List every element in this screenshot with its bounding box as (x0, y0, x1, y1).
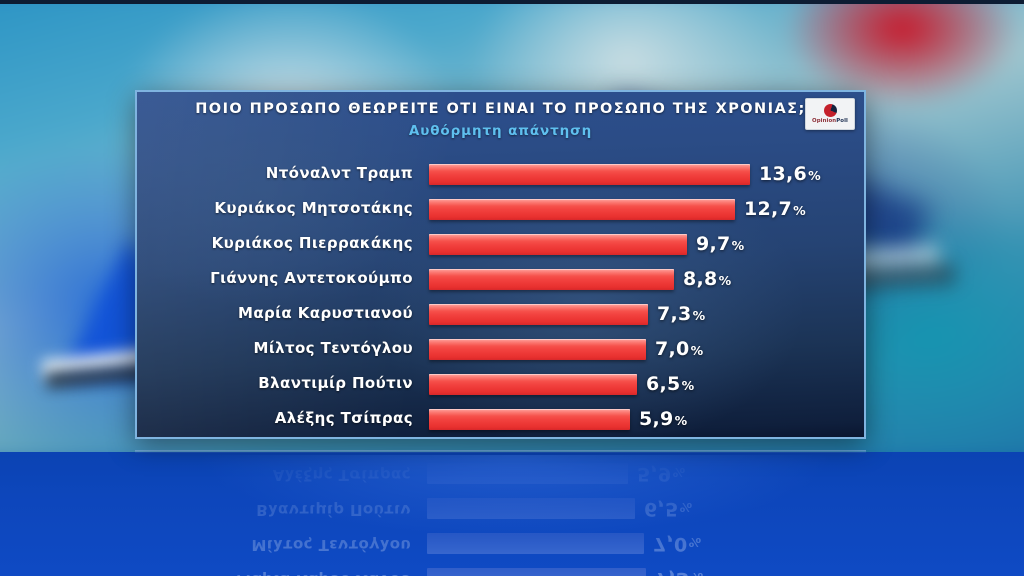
result-bar: 8,8% (429, 269, 674, 290)
result-row: Γιάννης Αντετοκούμπο8,8% (137, 265, 864, 300)
result-row: Κυριάκος Πιερρακάκης9,7% (137, 230, 864, 265)
result-value-number: 7,0 (653, 533, 688, 555)
percent-sign: % (680, 500, 693, 515)
result-bar: 5,9% (427, 463, 628, 484)
page-title: ΠΟΙΟ ΠΡΟΣΩΠΟ ΘΕΩΡΕΙΤΕ ΟΤΙ ΕΙΝΑΙ ΤΟ ΠΡΟΣΩ… (137, 101, 864, 117)
result-row: Μίλτος Τεντόγλου7,0% (137, 335, 864, 370)
result-bar: 13,6% (429, 164, 750, 185)
bar-track: 12,7% (429, 199, 856, 220)
bar-track: 7,3% (429, 304, 856, 325)
bar-track: 6,5% (429, 374, 856, 395)
opinionpoll-logo: OpinionPoll (805, 98, 855, 130)
percent-sign: % (691, 343, 704, 358)
result-row-label: Κυριάκος Μητσοτάκης (137, 199, 413, 217)
result-bar: 5,9% (429, 409, 630, 430)
opinionpoll-mark-icon (824, 104, 837, 117)
result-row: Ντόναλντ Τραμπ13,6% (137, 160, 864, 195)
panel-reflection: Ντόναλντ Τραμπ13,6%Κυριάκος Μητσοτάκης12… (135, 452, 866, 576)
top-letterbox-bar (0, 0, 1024, 4)
percent-sign: % (689, 535, 702, 550)
result-value-label: 6,5% (644, 495, 692, 521)
bar-track: 5,9% (429, 409, 856, 430)
result-row-label: Μαρία Καρυστιανού (137, 304, 413, 322)
result-value-label: 7,3% (657, 302, 705, 328)
result-row-label: Ντόναλντ Τραμπ (137, 164, 413, 182)
result-value-number: 7,0 (655, 338, 690, 360)
result-bar: 7,0% (429, 339, 646, 360)
percent-sign: % (673, 465, 686, 480)
bar-track: 7,0% (429, 339, 856, 360)
result-row: Αλέξης Τσίπρας5,9% (137, 405, 864, 439)
result-value-number: 8,8 (683, 268, 718, 290)
panel-header: ΠΟΙΟ ΠΡΟΣΩΠΟ ΘΕΩΡΕΙΤΕ ΟΤΙ ΕΙΝΑΙ ΤΟ ΠΡΟΣΩ… (137, 101, 864, 139)
opinionpoll-logo-text: OpinionPoll (812, 118, 848, 124)
result-value-number: 13,6 (759, 163, 807, 185)
result-row: Μαρία Καρυστιανού7,3% (137, 300, 864, 335)
result-row: Μίλτος Τεντόγλου7,0% (135, 523, 866, 558)
result-bar: 6,5% (429, 374, 637, 395)
result-row-label: Κυριάκος Πιερρακάκης (137, 234, 413, 252)
result-value-number: 5,9 (637, 463, 672, 485)
result-value-number: 6,5 (646, 373, 681, 395)
logo-text-part1: Opinion (812, 118, 836, 124)
result-value-number: 5,9 (639, 408, 674, 430)
bar-track: 6,5% (427, 498, 858, 519)
result-bar: 6,5% (427, 498, 635, 519)
result-bar: 9,7% (429, 234, 687, 255)
bar-track: 9,7% (429, 234, 856, 255)
result-value-label: 12,7% (744, 197, 806, 223)
bar-track: 7,0% (427, 533, 858, 554)
result-row-label: Αλέξης Τσίπρας (137, 409, 413, 427)
result-value-label: 9,7% (696, 232, 744, 258)
result-row: Αλέξης Τσίπρας5,9% (135, 453, 866, 488)
result-row-label: Γιάννης Αντετοκούμπο (137, 269, 413, 287)
bar-track: 5,9% (427, 463, 858, 484)
page-subtitle: Αυθόρμητη απάντηση (137, 123, 864, 139)
bar-track: 13,6% (429, 164, 856, 185)
result-value-number: 9,7 (696, 233, 731, 255)
percent-sign: % (675, 413, 688, 428)
percent-sign: % (691, 570, 704, 576)
result-value-label: 5,9% (639, 407, 687, 433)
percent-sign: % (719, 273, 732, 288)
percent-sign: % (793, 203, 806, 218)
result-bar: 7,3% (429, 304, 648, 325)
result-value-number: 7,3 (657, 303, 692, 325)
reflection-edge-highlight (135, 450, 866, 453)
results-list: Ντόναλντ Τραμπ13,6%Κυριάκος Μητσοτάκης12… (137, 160, 864, 439)
result-value-number: 12,7 (744, 198, 792, 220)
result-value-label: 5,9% (637, 460, 685, 486)
result-row: Μαρία Καρυστιανού7,3% (135, 558, 866, 576)
result-value-label: 7,0% (653, 530, 701, 556)
result-value-label: 7,3% (655, 565, 703, 576)
result-row-label: Βλαντιμίρ Πούτιν (135, 501, 411, 519)
percent-sign: % (808, 168, 821, 183)
result-value-label: 7,0% (655, 337, 703, 363)
result-row: Βλαντιμίρ Πούτιν6,5% (137, 370, 864, 405)
percent-sign: % (682, 378, 695, 393)
percent-sign: % (693, 308, 706, 323)
result-row-label: Μαρία Καρυστιανού (135, 571, 411, 576)
bar-track: 8,8% (429, 269, 856, 290)
result-row-label: Μίλτος Τεντόγλου (135, 536, 411, 554)
result-value-label: 8,8% (683, 267, 731, 293)
result-row: Κυριάκος Μητσοτάκης12,7% (137, 195, 864, 230)
result-bar: 7,0% (427, 533, 644, 554)
result-value-number: 7,3 (655, 568, 690, 576)
bar-track: 7,3% (427, 568, 858, 576)
result-value-label: 6,5% (646, 372, 694, 398)
result-bar: 7,3% (427, 568, 646, 576)
result-bar: 12,7% (429, 199, 735, 220)
result-row-label: Μίλτος Τεντόγλου (137, 339, 413, 357)
broadcast-stage: Ντόναλντ Τραμπ13,6%Κυριάκος Μητσοτάκης12… (0, 0, 1024, 576)
result-row-label: Βλαντιμίρ Πούτιν (137, 374, 413, 392)
logo-text-part2: Poll (836, 118, 848, 124)
result-value-label: 13,6% (759, 162, 821, 188)
result-value-number: 6,5 (644, 498, 679, 520)
percent-sign: % (732, 238, 745, 253)
result-row: Βλαντιμίρ Πούτιν6,5% (135, 488, 866, 523)
result-row-label: Αλέξης Τσίπρας (135, 466, 411, 484)
poll-results-panel: ΠΟΙΟ ΠΡΟΣΩΠΟ ΘΕΩΡΕΙΤΕ ΟΤΙ ΕΙΝΑΙ ΤΟ ΠΡΟΣΩ… (135, 90, 866, 439)
